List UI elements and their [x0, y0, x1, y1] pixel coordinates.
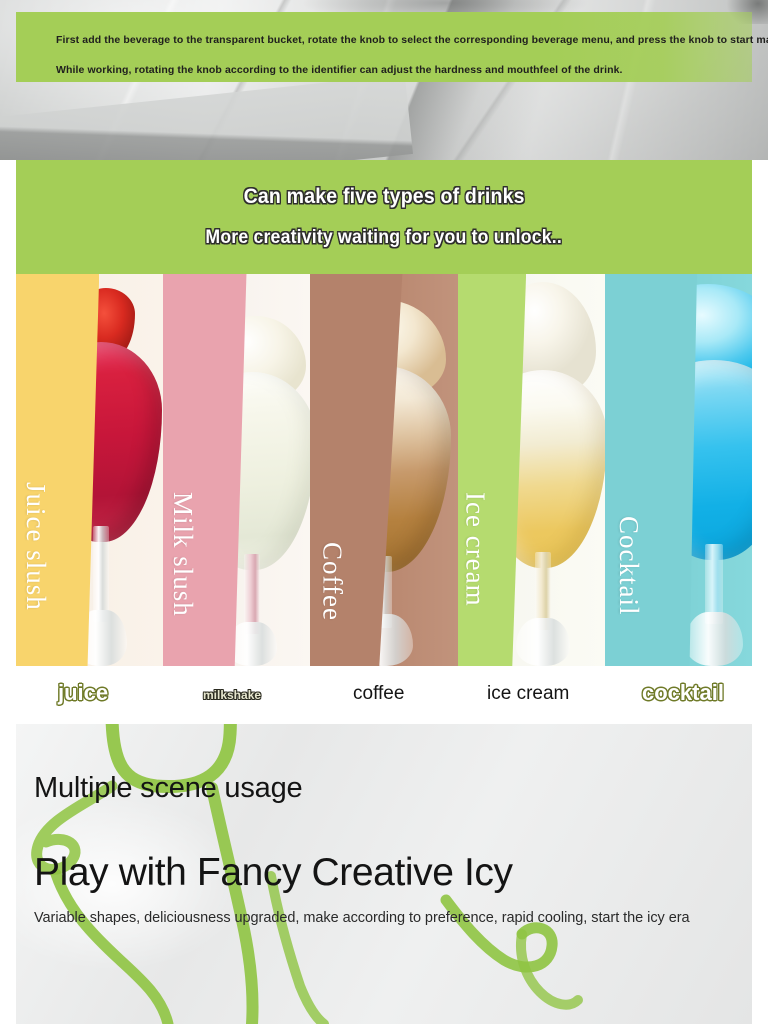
cocktail-vertical-label: Cocktail	[613, 516, 644, 615]
drink-strip-ice-cream[interactable]: Ice cream	[458, 274, 605, 666]
drink-caption-row: juice milkshake coffee ice cream cocktai…	[16, 666, 752, 724]
ice-cream-glass-foot	[516, 618, 570, 666]
drink-strip-milk-slush[interactable]: Milk slush	[163, 274, 310, 666]
drink-strip-juice-slush[interactable]: Juice slush	[16, 274, 163, 666]
caption-cocktail: cocktail	[642, 680, 724, 706]
marble-photo-section: First add the beverage to the transparen…	[0, 0, 768, 160]
scene-heading-large: Play with Fancy Creative Icy	[34, 851, 513, 895]
scene-usage-section: Multiple scene usage Play with Fancy Cre…	[16, 724, 752, 1024]
milk-slush-vertical-label: Milk slush	[167, 492, 198, 617]
coffee-vertical-label: Coffee	[316, 542, 347, 621]
instruction-line-1: First add the beverage to the transparen…	[56, 34, 768, 46]
scene-subtitle: Variable shapes, deliciousness upgraded,…	[34, 910, 690, 926]
product-detail-page: First add the beverage to the transparen…	[0, 0, 768, 1024]
cocktail-glass-foot	[685, 612, 743, 666]
drink-strip-coffee[interactable]: Coffee	[310, 274, 457, 666]
drink-strip-cocktail[interactable]: Cocktail	[605, 274, 752, 666]
headline-subtitle: More creativity waiting for you to unloc…	[206, 227, 563, 249]
drink-strip-row: Juice slush Milk slush Coffee	[16, 274, 752, 666]
caption-milkshake: milkshake	[203, 688, 261, 702]
headline-band: Can make five types of drinks More creat…	[16, 160, 752, 274]
headline-title: Can make five types of drinks	[243, 185, 524, 209]
ice-cream-vertical-label: Ice cream	[460, 492, 491, 607]
instruction-line-2: While working, rotating the knob accordi…	[56, 64, 623, 76]
scene-heading-small: Multiple scene usage	[34, 772, 302, 805]
caption-coffee: coffee	[353, 683, 404, 705]
caption-juice: juice	[58, 680, 108, 706]
caption-ice-cream: ice cream	[487, 683, 569, 705]
juice-slush-vertical-label: Juice slush	[20, 482, 51, 611]
juice-glass-stem	[93, 526, 109, 622]
instruction-band: First add the beverage to the transparen…	[16, 12, 752, 82]
